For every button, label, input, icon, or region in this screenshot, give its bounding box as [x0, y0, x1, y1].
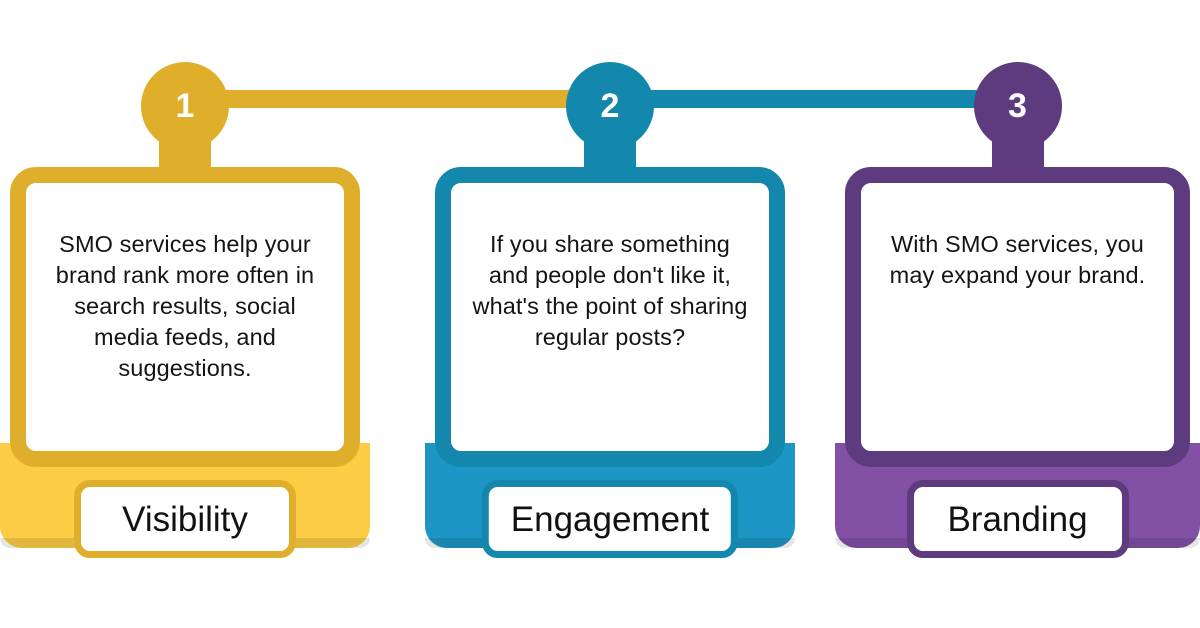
step-1-card-frame: SMO services help your brand rank more o… — [10, 167, 360, 467]
step-2-number-badge[interactable]: 2 — [566, 62, 654, 150]
step-1-body-text: SMO services help your brand rank more o… — [26, 229, 344, 384]
step-3-number-badge[interactable]: 3 — [974, 62, 1062, 150]
step-3-body-text: With SMO services, you may expand your b… — [861, 229, 1174, 291]
step-3-card-frame: With SMO services, you may expand your b… — [845, 167, 1190, 467]
step-card-3: With SMO services, you may expand your b… — [835, 0, 1200, 628]
step-2-label-text: Engagement — [511, 502, 709, 537]
step-2-body-text: If you share something and people don't … — [451, 229, 769, 353]
step-1-label-pill[interactable]: Visibility — [74, 480, 296, 558]
step-2-card-frame: If you share something and people don't … — [435, 167, 785, 467]
step-1-number-label: 1 — [176, 87, 195, 126]
infographic-canvas: SMO services help your brand rank more o… — [0, 0, 1200, 628]
step-2-label-pill[interactable]: Engagement — [482, 480, 738, 558]
step-1-number-badge[interactable]: 1 — [141, 62, 229, 150]
step-card-1: SMO services help your brand rank more o… — [0, 0, 370, 628]
step-3-number-label: 3 — [1008, 87, 1027, 126]
step-1-label-text: Visibility — [122, 502, 248, 537]
step-card-2: If you share something and people don't … — [425, 0, 795, 628]
step-2-number-label: 2 — [601, 87, 620, 126]
step-3-label-text: Branding — [947, 502, 1087, 537]
step-3-label-pill[interactable]: Branding — [907, 480, 1129, 558]
